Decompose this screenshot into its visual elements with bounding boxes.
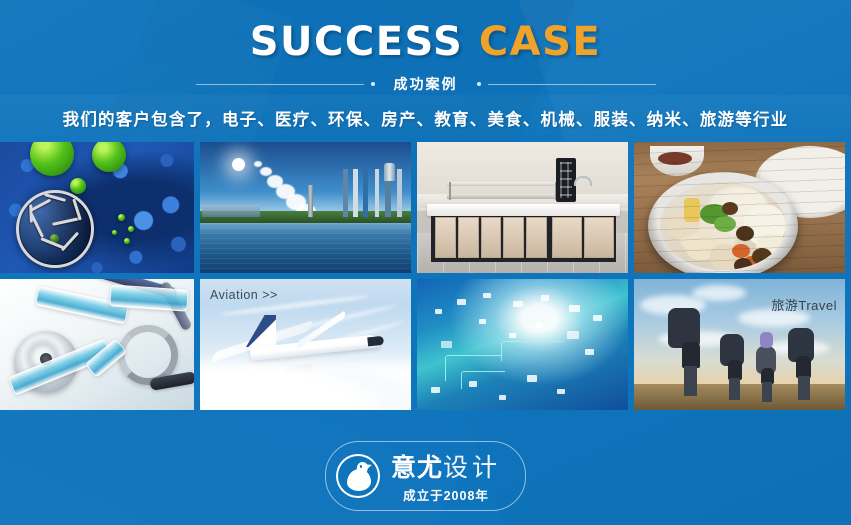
hot-pot <box>648 172 798 273</box>
plant-tower <box>384 163 395 181</box>
gallery-item-nanotechnology[interactable] <box>0 142 194 273</box>
airplane-tail-fin <box>246 315 276 347</box>
food-tofu <box>684 198 700 222</box>
circuit-chip <box>435 309 442 314</box>
success-case-banner: SUCCESS CASE 成功案例 我们的客户包含了，电子、医疗、环保、房产、教… <box>0 0 851 525</box>
shelf-post <box>449 182 451 200</box>
sleeping-roll <box>760 332 773 348</box>
cabinet-door <box>503 217 524 258</box>
green-sphere <box>118 214 125 221</box>
hiker-legs <box>762 382 772 402</box>
case-gallery-grid: Aviation >> <box>0 142 851 410</box>
hiker-legs <box>684 366 697 396</box>
food-chicken <box>710 244 740 270</box>
hiker-torso <box>728 360 742 380</box>
circuit-chip <box>541 295 549 301</box>
aviation-airplane-image: Aviation >> <box>200 279 411 410</box>
hiker-figure <box>754 332 780 394</box>
food-carrot <box>732 244 750 258</box>
footer-brand-area: 意尤设计 成立于2008年 <box>0 441 851 511</box>
food-chicken <box>666 212 700 238</box>
food-mushroom <box>752 248 772 265</box>
gallery-item-travel[interactable]: 旅游Travel <box>634 279 845 410</box>
title-word-success: SUCCESS <box>250 19 464 65</box>
divider-rule-right <box>488 84 656 85</box>
sauce-dish <box>658 152 692 165</box>
divider-dot-right <box>477 82 481 86</box>
circuit-chip <box>535 323 543 328</box>
green-sphere <box>92 142 126 172</box>
circuit-chip <box>567 331 579 339</box>
circuit-chip <box>457 299 466 305</box>
green-sphere <box>70 178 86 194</box>
food-mushroom <box>736 226 754 241</box>
gallery-item-food[interactable] <box>634 142 845 273</box>
bird-beak-icon <box>364 462 373 470</box>
city-skyline <box>202 205 260 217</box>
gallery-item-laboratory[interactable] <box>417 142 628 273</box>
hiker-torso <box>682 342 700 368</box>
brand-text: 意尤设计 成立于2008年 <box>391 448 501 504</box>
circuit-chip <box>585 349 594 355</box>
brand-mark-inner <box>338 456 378 496</box>
divider-dot-left <box>371 82 375 86</box>
fullerene-molecule <box>16 190 94 268</box>
page-subtitle: 成功案例 <box>382 74 470 94</box>
cabinet-door <box>526 217 547 258</box>
brand-name-thin: 设计 <box>443 448 501 484</box>
circuit-chip <box>479 319 486 324</box>
nanotechnology-image <box>0 142 194 273</box>
bench-countertop <box>427 204 620 216</box>
reagent-shelf-lower <box>447 194 559 199</box>
electronics-circuit-image <box>417 279 628 410</box>
circuit-chip <box>499 395 506 400</box>
food-carrot <box>744 256 758 268</box>
cabinet-door <box>435 217 456 258</box>
gallery-item-medical[interactable] <box>0 279 194 410</box>
brand-name-line: 意尤设计 <box>391 448 501 484</box>
brand-established: 成立于2008年 <box>391 485 501 504</box>
medical-syringe-image <box>0 279 194 410</box>
green-sphere <box>124 238 130 244</box>
circuit-chip <box>441 341 452 348</box>
aviation-label: Aviation >> <box>210 288 278 302</box>
reagent-shelf-upper <box>447 182 559 186</box>
airplane-cockpit <box>367 336 384 347</box>
cabinet-door <box>481 217 502 258</box>
cabinet-door <box>458 217 479 258</box>
circuit-chip <box>513 301 523 307</box>
industries-tagline: 我们的客户包含了，电子、医疗、环保、房产、教育、美食、机械、服装、纳米、旅游等行… <box>0 106 851 130</box>
food-cabbage <box>722 188 766 222</box>
food-cabbage <box>744 204 786 246</box>
circuit-chip <box>509 333 516 338</box>
lab-bench <box>427 204 620 262</box>
control-panel <box>556 158 576 202</box>
brand-mark-icon <box>336 454 380 498</box>
green-sphere <box>30 142 74 176</box>
hiker-legs <box>798 376 810 400</box>
circuit-chip <box>469 381 477 387</box>
food-greens <box>714 216 736 232</box>
molecule-bond <box>29 204 33 222</box>
page-title: SUCCESS CASE <box>0 22 851 62</box>
side-bowl <box>650 146 704 176</box>
hiker-figure <box>668 308 708 394</box>
title-word-case: CASE <box>479 19 601 65</box>
green-sphere <box>128 226 134 232</box>
gallery-item-electronics[interactable] <box>417 279 628 410</box>
circuit-chip <box>569 305 580 312</box>
brand-name-bold: 意尤 <box>391 448 443 484</box>
cloud-layer <box>200 352 411 410</box>
smokestack <box>308 185 313 217</box>
hiker-torso <box>796 356 811 378</box>
travel-hikers-image: 旅游Travel <box>634 279 845 410</box>
hiker-figure <box>788 322 818 394</box>
cabinet-door <box>552 217 582 258</box>
green-sphere <box>112 230 117 235</box>
hiker-legs <box>729 378 740 400</box>
gallery-item-environment[interactable] <box>200 142 411 273</box>
food-cabbage <box>756 234 786 260</box>
hiker-figure <box>720 326 748 394</box>
hotpot-food-image <box>634 142 845 273</box>
pot-contents <box>660 182 786 270</box>
circuit-chip <box>593 315 602 321</box>
circuit-chip <box>483 293 491 298</box>
industrial-plant <box>339 169 409 217</box>
brand-logo[interactable]: 意尤设计 成立于2008年 <box>325 441 526 511</box>
gallery-item-aviation[interactable]: Aviation >> <box>200 279 411 410</box>
circuit-chip <box>431 387 440 393</box>
smoke-puff <box>260 167 272 176</box>
sun-glow <box>232 158 245 171</box>
sink-faucet <box>574 176 592 186</box>
environmental-plant-image <box>200 142 411 273</box>
cabinet-doors-right <box>552 217 614 258</box>
smoke-puff <box>267 175 283 188</box>
circuit-trace <box>501 341 563 361</box>
travel-label: 旅游Travel <box>771 295 837 314</box>
subtitle-divider: 成功案例 <box>0 75 851 93</box>
secondary-plate <box>755 146 845 218</box>
cloud <box>692 285 746 301</box>
food-mushroom <box>722 202 738 215</box>
circuit-trace <box>461 371 505 389</box>
food-greens <box>700 204 728 224</box>
divider-rule-left <box>196 84 364 85</box>
cabinet-doors-left <box>435 217 547 258</box>
food-mushroom <box>734 258 752 270</box>
circuit-chip <box>527 375 537 382</box>
banner-header: SUCCESS CASE 成功案例 我们的客户包含了，电子、医疗、环保、房产、教… <box>0 0 851 130</box>
circuit-chip <box>557 389 565 394</box>
cabinet-door <box>584 217 614 258</box>
water-surface <box>200 223 411 273</box>
laboratory-bench-image <box>417 142 628 273</box>
food-chicken <box>686 232 718 260</box>
smoke-puff <box>254 161 262 167</box>
